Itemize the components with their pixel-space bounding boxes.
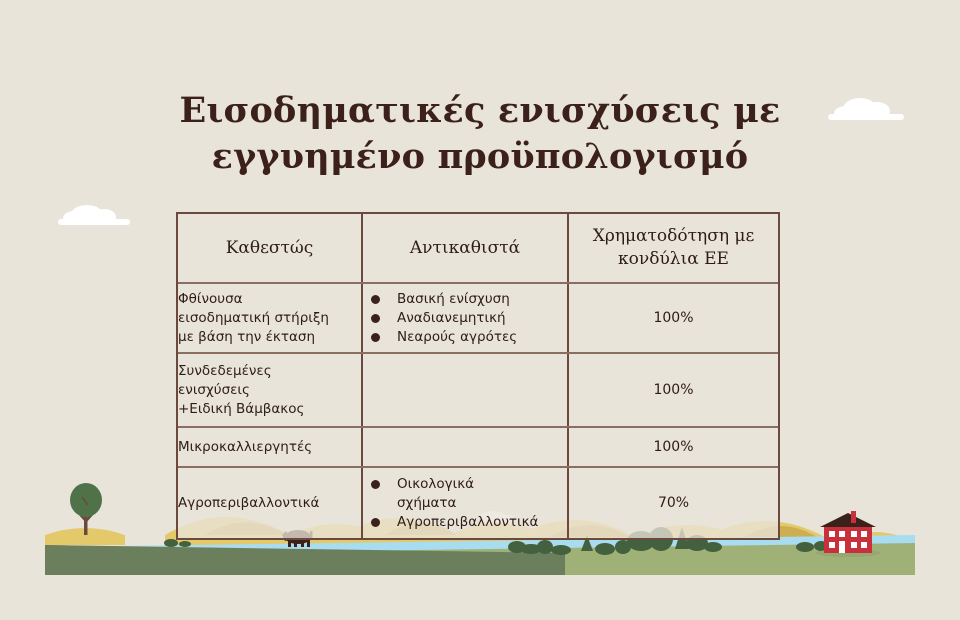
cloud-left bbox=[52, 203, 138, 231]
cell-replaces bbox=[362, 353, 568, 427]
scheme-line-1: Συνδεδεμένες bbox=[178, 363, 272, 379]
aid-schemes-table: Καθεστώς Αντικαθιστά Χρηματοδότηση με κο… bbox=[176, 212, 780, 540]
column-header-scheme: Καθεστώς bbox=[178, 214, 362, 283]
cell-replaces: Βασική ενίσχυση Αναδιανεμητική Νεαρούς α… bbox=[362, 283, 568, 353]
list-item: Αναδιανεμητική bbox=[363, 309, 567, 328]
cell-funding: 70% bbox=[568, 467, 778, 538]
table-row: Αγροπεριβαλλοντικά Οικολογικά σχήματα Αγ… bbox=[178, 467, 778, 538]
slide-canvas: Εισοδηματικές ενισχύσεις με εγγυημένο πρ… bbox=[0, 0, 960, 620]
scheme-line-2: εισοδηματική στήριξη bbox=[178, 310, 329, 326]
page-title: Εισοδηματικές ενισχύσεις με εγγυημένο πρ… bbox=[0, 88, 960, 180]
replaces-list: Βασική ενίσχυση Αναδιανεμητική Νεαρούς α… bbox=[363, 290, 567, 347]
column-header-replaces: Αντικαθιστά bbox=[362, 214, 568, 283]
column-header-funding-line-2: κονδύλια ΕΕ bbox=[618, 249, 729, 269]
list-item: Αγροπεριβαλλοντικά bbox=[363, 513, 567, 532]
scheme-line-1: Μικροκαλλιεργητές bbox=[178, 439, 312, 455]
page-title-line-2: εγγυημένο προϋπολογισμό bbox=[0, 134, 960, 180]
cell-scheme: Συνδεδεμένες ενισχύσεις +Ειδική Βάμβακος bbox=[178, 353, 362, 427]
scheme-line-3: +Ειδική Βάμβακος bbox=[178, 401, 304, 417]
cell-replaces bbox=[362, 427, 568, 467]
scheme-line-2: ενισχύσεις bbox=[178, 382, 250, 398]
cell-scheme: Φθίνουσα εισοδηματική στήριξη με βάση τη… bbox=[178, 283, 362, 353]
table-row: Φθίνουσα εισοδηματική στήριξη με βάση τη… bbox=[178, 283, 778, 353]
cell-funding: 100% bbox=[568, 283, 778, 353]
cell-replaces: Οικολογικά σχήματα Αγροπεριβαλλοντικά bbox=[362, 467, 568, 538]
cloud-shape-icon bbox=[52, 203, 138, 227]
table-row: Μικροκαλλιεργητές 100% bbox=[178, 427, 778, 467]
list-item: Οικολογικά σχήματα bbox=[363, 475, 515, 513]
column-header-funding: Χρηματοδότηση με κονδύλια ΕΕ bbox=[568, 214, 778, 283]
table-row: Συνδεδεμένες ενισχύσεις +Ειδική Βάμβακος… bbox=[178, 353, 778, 427]
cell-scheme: Αγροπεριβαλλοντικά bbox=[178, 467, 362, 538]
scheme-line-3: με βάση την έκταση bbox=[178, 329, 315, 345]
cell-funding: 100% bbox=[568, 353, 778, 427]
cell-scheme: Μικροκαλλιεργητές bbox=[178, 427, 362, 467]
scheme-line-1: Φθίνουσα bbox=[178, 291, 243, 307]
column-header-funding-line-1: Χρηματοδότηση με bbox=[593, 226, 755, 246]
list-item: Βασική ενίσχυση bbox=[363, 290, 567, 309]
list-item: Νεαρούς αγρότες bbox=[363, 328, 567, 347]
table-header-row: Καθεστώς Αντικαθιστά Χρηματοδότηση με κο… bbox=[178, 214, 778, 283]
cell-funding: 100% bbox=[568, 427, 778, 467]
page-title-line-1: Εισοδηματικές ενισχύσεις με bbox=[0, 88, 960, 134]
scheme-line-1: Αγροπεριβαλλοντικά bbox=[178, 495, 319, 511]
replaces-list: Οικολογικά σχήματα Αγροπεριβαλλοντικά bbox=[363, 475, 567, 532]
